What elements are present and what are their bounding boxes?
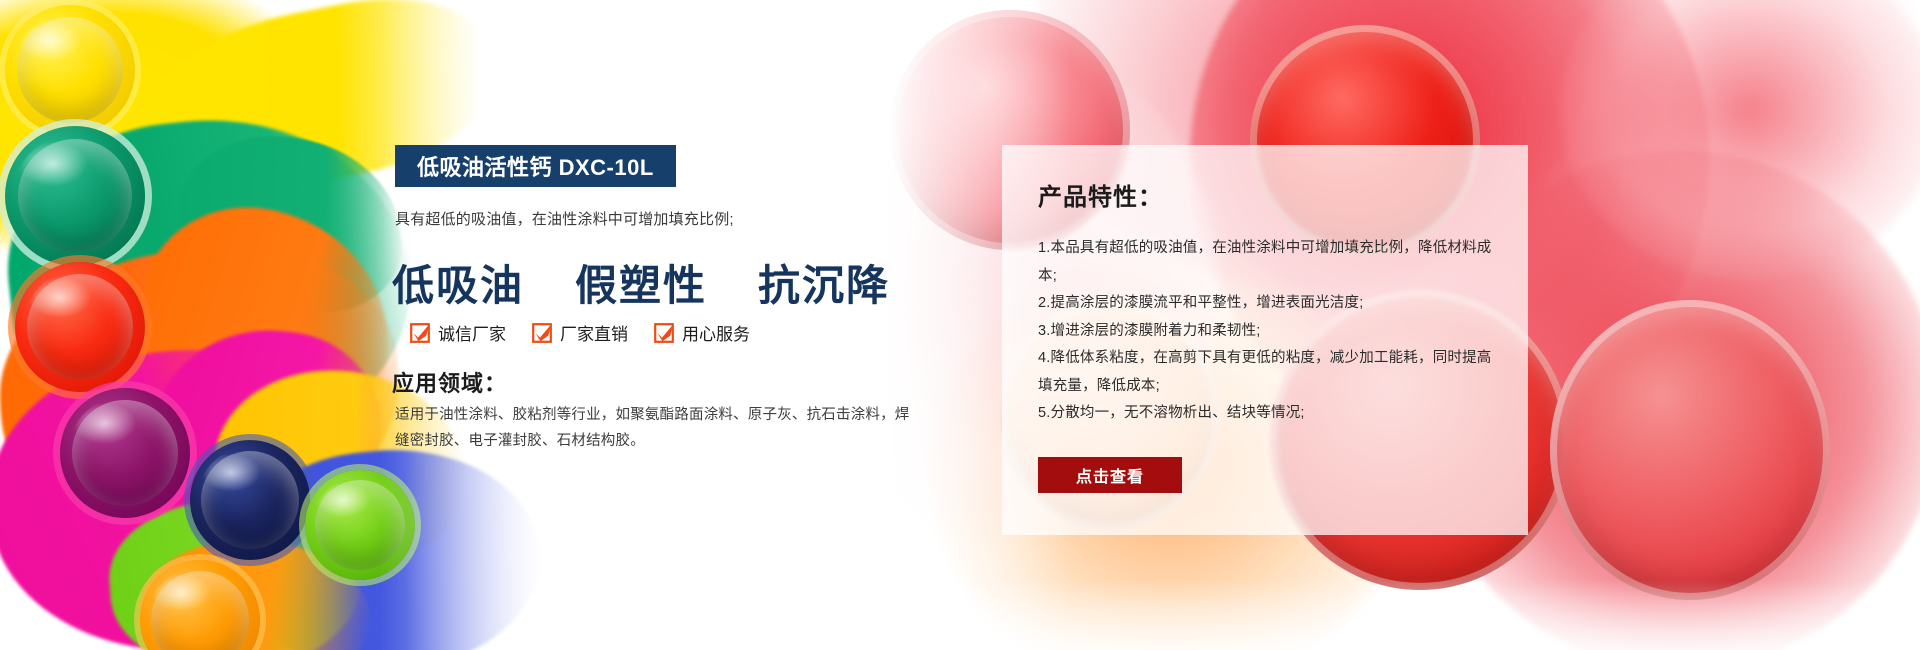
paint-pot-green — [5, 126, 145, 266]
feature-item-2: 厂家直销 — [532, 320, 628, 345]
application-section-body: 适用于油性涂料、胶粘剂等行业，如聚氨酯路面涂料、原子灰、抗石击涂料，焊缝密封胶、… — [395, 402, 915, 454]
paint-stroke-amber — [135, 532, 375, 650]
paint-pot-navy — [190, 440, 310, 560]
product-features-panel: 产品特性： 1.本品具有超低的吸油值，在油性涂料中可增加填充比例，降低材料成本;… — [1002, 145, 1528, 535]
paint-pot-deep-red — [1550, 300, 1830, 600]
feature-item-1: 诚信厂家 — [410, 320, 506, 345]
panel-feature-list: 1.本品具有超低的吸油值，在油性涂料中可增加填充比例，降低材料成本; 2.提高涂… — [1038, 235, 1500, 428]
view-details-button[interactable]: 点击查看 — [1038, 457, 1182, 493]
red-wash-4 — [1560, 0, 1920, 280]
checkbox-checked-icon — [654, 323, 674, 343]
paint-pot-purple — [60, 388, 190, 518]
application-section-title: 应用领域： — [392, 366, 507, 398]
paint-pot-yellow — [5, 5, 135, 135]
checkbox-checked-icon — [532, 323, 552, 343]
headline-part-3: 抗沉降 — [758, 264, 890, 310]
feature-list: 诚信厂家 厂家直销 用心服务 — [410, 320, 950, 345]
right-artwork-bottom-fade — [860, 580, 1920, 650]
banner-stage: 低吸油活性钙 DXC-10L 具有超低的吸油值，在油性涂料中可增加填充比例; 低… — [0, 0, 1920, 650]
paint-stroke-green — [0, 100, 426, 470]
center-content: 低吸油活性钙 DXC-10L 具有超低的吸油值，在油性涂料中可增加填充比例; 低… — [392, 0, 952, 650]
list-item: 4.降低体系粘度，在高剪下具有更低的粘度，减少加工能耗，同时提高填充量，降低成本… — [1038, 345, 1500, 400]
paint-stroke-orange — [0, 233, 412, 557]
feature-item-3: 用心服务 — [654, 320, 750, 345]
product-subtitle: 具有超低的吸油值，在油性涂料中可增加填充比例; — [395, 208, 935, 229]
list-item: 1.本品具有超低的吸油值，在油性涂料中可增加填充比例，降低材料成本; — [1038, 235, 1500, 290]
paint-stroke-magenta-2 — [139, 319, 391, 562]
checkbox-checked-icon — [410, 323, 430, 343]
paint-stroke-magenta — [0, 336, 400, 650]
paint-stroke-lime — [104, 491, 365, 650]
paint-stroke-yellow — [0, 0, 389, 298]
paint-pot-amber — [140, 560, 260, 650]
headline-part-2: 假塑性 — [575, 264, 707, 310]
product-title-badge: 低吸油活性钙 DXC-10L — [395, 145, 676, 187]
headline: 低吸油 假塑性 抗沉降 — [392, 252, 952, 313]
list-item: 2.提高涂层的漆膜流平和平整性，增进表面光洁度; — [1038, 290, 1500, 318]
feature-label-2: 厂家直销 — [560, 320, 628, 345]
paint-pot-red — [15, 262, 145, 392]
paint-stroke-orange-2 — [125, 194, 405, 457]
paint-stroke-green-2 — [174, 128, 406, 323]
panel-title: 产品特性： — [1038, 177, 1163, 212]
list-item: 5.分散均一，无不溶物析出、结块等情况; — [1038, 400, 1500, 428]
list-item: 3.增进涂层的漆膜附着力和柔韧性; — [1038, 318, 1500, 346]
feature-label-1: 诚信厂家 — [438, 320, 506, 345]
feature-label-3: 用心服务 — [682, 320, 750, 345]
headline-part-1: 低吸油 — [392, 264, 524, 310]
